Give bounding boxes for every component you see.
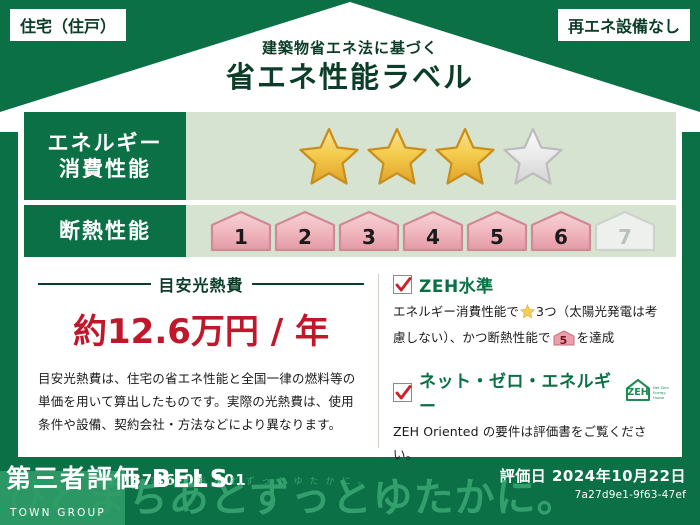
zeh-standard-checkbox[interactable] [393,275,412,294]
energy-label-root: 住宅（住戸） 再エネ設備なし 建築物省エネ法に基づく 省エネ性能ラベル エネルギ… [0,0,700,525]
dwelling-type-label: 住宅（住戸） [20,13,116,37]
zeh-desc-part3: を達成 [577,330,615,345]
renewable-equipment-label: 再エネ設備なし [568,13,680,37]
utility-cost-note: 目安光熱費は、住宅の省エネ性能と全国一律の燃料等の単価を用いて算出したものです。… [38,367,364,436]
house-rank-number: 3 [362,225,376,249]
insulation-performance-label: 断熱性能 [24,205,186,257]
main-card: エネルギー 消費性能 断熱性能 1234567 目安光熱費 約12.6万円 / … [18,106,682,457]
renewable-equipment-tag: 再エネ設備なし [556,7,692,43]
inline-star-icon [520,304,535,327]
page-title: 省エネ性能ラベル [0,60,700,95]
star-filled-icon [298,126,360,186]
inline-house-badge: 5 [553,330,575,354]
evaluation-date: 評価日 2024年10月22日 [500,465,686,486]
house-filled-icon: 1 [210,210,272,252]
svg-text:House: House [653,396,665,400]
energy-performance-label-line1: エネルギー [48,130,163,156]
zeh-desc-part1: エネルギー消費性能で [393,304,519,319]
zeh-standard-header: ZEH水準 [393,272,670,297]
svg-text:Energy: Energy [653,391,666,395]
house-rank-number: 6 [554,225,568,249]
house-rank-number: 2 [298,225,312,249]
utility-cost-section: 目安光熱費 約12.6万円 / 年 目安光熱費は、住宅の省エネ性能と全国一律の燃… [24,268,372,458]
zeh-standard-title: ZEH水準 [419,272,494,297]
house-empty-icon: 7 [594,210,656,252]
label-title-block: 建築物省エネ法に基づく 省エネ性能ラベル [0,40,700,94]
zeh-net-zero-header: ネット・ゼロ・エネルギー ZEH Net Zero Energy House [393,367,670,417]
heading-rule-right [252,283,365,285]
house-rank-number: 5 [490,225,504,249]
evaluation-info: 評価日 2024年10月22日 7a27d9e1-9f63-47ef [500,465,686,501]
insulation-performance-label-text: 断熱性能 [59,218,151,244]
zeh-item-net-zero: ネット・ゼロ・エネルギー ZEH Net Zero Energy House Z… [393,367,670,466]
star-filled-icon [434,126,496,186]
energy-performance-label: エネルギー 消費性能 [24,112,186,200]
house-filled-icon: 3 [338,210,400,252]
zeh-standard-description: エネルギー消費性能で3つ（太陽光発電は考慮しない）、かつ断熱性能で5を達成 [393,301,670,353]
section-divider [378,274,379,448]
inline-house-number: 5 [553,331,575,351]
house-rank-number: 4 [426,225,440,249]
house-rating-group: 1234567 [186,205,676,257]
zeh-item-standard: ZEH水準 エネルギー消費性能で3つ（太陽光発電は考慮しない）、かつ断熱性能で5… [393,272,670,353]
zeh-desc-star-count: 3つ（太陽光発電 [536,304,632,319]
zeh-logo-icon: ZEH Net Zero Energy House [624,377,670,407]
house-filled-icon: 5 [466,210,528,252]
reference-number: 0278746-01 301 [96,471,247,489]
house-rank-number: 7 [618,225,632,249]
check-icon [395,276,412,294]
heading-rule-left [38,283,151,285]
insulation-performance-row: 断熱性能 1234567 [24,205,676,257]
house-filled-icon: 2 [274,210,336,252]
house-filled-icon: 4 [402,210,464,252]
star-empty-icon [502,126,564,186]
svg-text:Net Zero: Net Zero [653,386,669,390]
zeh-net-zero-checkbox[interactable] [393,383,412,402]
utility-cost-heading: 目安光熱費 [159,272,244,296]
star-rating-group [186,112,676,200]
utility-cost-heading-row: 目安光熱費 [38,272,364,296]
lower-section: 目安光熱費 約12.6万円 / 年 目安光熱費は、住宅の省エネ性能と全国一律の燃… [24,262,676,458]
house-filled-icon: 6 [530,210,592,252]
dwelling-type-tag: 住宅（住戸） [8,7,128,43]
energy-performance-row: エネルギー 消費性能 [24,112,676,200]
footer-bar: 0278746-01 301 評価日 2024年10月22日 7a27d9e1-… [0,457,700,525]
zeh-net-zero-title: ネット・ゼロ・エネルギー [419,367,613,417]
star-filled-icon [366,126,428,186]
zeh-section: ZEH水準 エネルギー消費性能で3つ（太陽光発電は考慮しない）、かつ断熱性能で5… [385,268,676,458]
svg-text:ZEH: ZEH [627,387,648,398]
evaluation-uid: 7a27d9e1-9f63-47ef [500,489,686,501]
energy-performance-label-line2: 消費性能 [59,156,151,182]
utility-cost-value: 約12.6万円 / 年 [38,304,364,353]
check-icon [395,384,412,402]
house-rank-number: 1 [234,225,248,249]
